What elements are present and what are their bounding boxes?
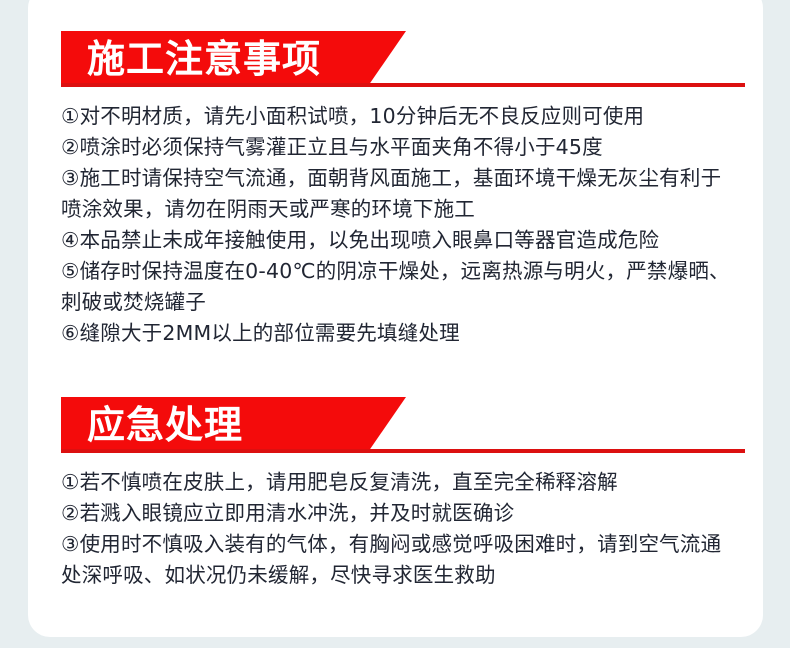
list-item: ③使用时不慎吸入装有的气体，有胸闷或感觉呼吸困难时，请到空气流通处深呼吸、如状况… [61,529,733,591]
list-item: ④本品禁止未成年接触使用，以免出现喷入眼鼻口等器官造成危险 [61,225,733,256]
list-item: ②若溅入眼镜应立即用清水冲洗，并及时就医确诊 [61,498,733,529]
list-item: ⑤储存时保持温度在0-40℃的阴凉干燥处，远离热源与明火，严禁爆晒、刺破或焚烧罐… [61,256,733,318]
list-item: ①对不明材质，请先小面积试喷，10分钟后无不良反应则可使用 [61,101,733,132]
banner-shape-construction-notes: 施工注意事项 [61,31,406,86]
section-construction-notes: 施工注意事项 ①对不明材质，请先小面积试喷，10分钟后无不良反应则可使用 ②喷涂… [28,0,763,349]
banner-rule-emergency-handling [61,449,745,453]
list-item: ③施工时请保持空气流通，面朝背风面施工，基面环境干燥无灰尘有利于喷涂效果，请勿在… [61,163,733,225]
construction-notes-list: ①对不明材质，请先小面积试喷，10分钟后无不良反应则可使用 ②喷涂时必须保持气雾… [28,88,763,349]
section-title-construction-notes: 施工注意事项 [61,40,321,78]
section-title-emergency-handling: 应急处理 [61,406,243,444]
list-item: ②喷涂时必须保持气雾灌正立且与水平面夹角不得小于45度 [61,132,733,163]
section-header-emergency-handling: 应急处理 [28,397,763,454]
section-header-construction-notes: 施工注意事项 [28,31,763,88]
banner-rule-construction-notes [61,83,745,87]
list-item: ⑥缝隙大于2MM以上的部位需要先填缝处理 [61,318,733,349]
info-card: 施工注意事项 ①对不明材质，请先小面积试喷，10分钟后无不良反应则可使用 ②喷涂… [28,0,763,637]
banner-shape-emergency-handling: 应急处理 [61,397,406,452]
list-item: ①若不慎喷在皮肤上，请用肥皂反复清洗，直至完全稀释溶解 [61,467,733,498]
emergency-handling-list: ①若不慎喷在皮肤上，请用肥皂反复清洗，直至完全稀释溶解 ②若溅入眼镜应立即用清水… [28,454,763,591]
card-content: 施工注意事项 ①对不明材质，请先小面积试喷，10分钟后无不良反应则可使用 ②喷涂… [28,0,763,637]
section-emergency-handling: 应急处理 ①若不慎喷在皮肤上，请用肥皂反复清洗，直至完全稀释溶解 ②若溅入眼镜应… [28,349,763,591]
